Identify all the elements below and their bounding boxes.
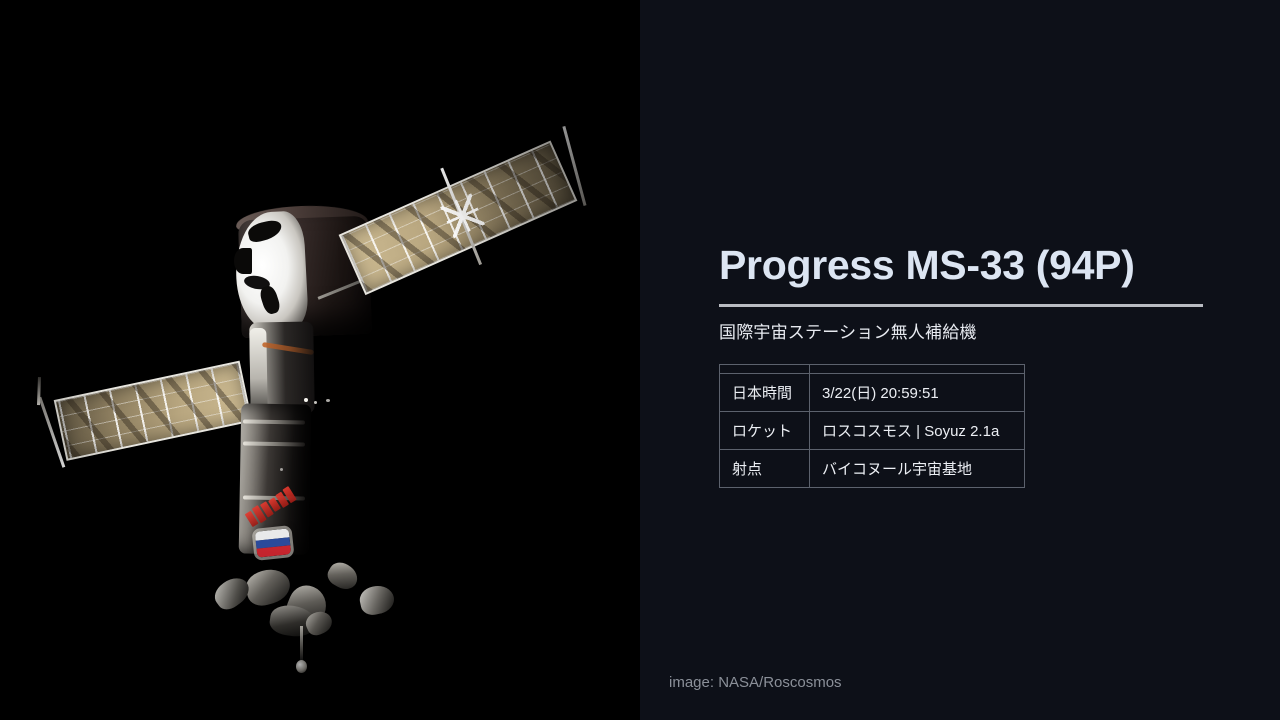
title-divider [719,304,1203,307]
table-row: 日本時間 3/22(日) 20:59:51 [720,374,1025,412]
spec-key-launch-time: 日本時間 [720,374,810,412]
table-row: ロケット ロスコスモス | Soyuz 2.1a [720,412,1025,450]
docking-probe-tip [296,660,307,673]
page-subtitle: 国際宇宙ステーション無人補給機 [719,318,977,343]
solar-array-right [339,140,578,295]
spec-header-key [720,365,810,374]
mission-info-panel: Progress MS-33 (94P) 国際宇宙ステーション無人補給機 日本時… [640,0,1280,720]
page-title: Progress MS-33 (94P) [719,242,1219,289]
russian-flag-emblem [255,528,292,557]
spec-header-value [810,365,1025,374]
spec-table-body: 日本時間 3/22(日) 20:59:51 ロケット ロスコスモス | Soyu… [720,374,1025,488]
hull-specular-3 [326,399,330,402]
spec-key-rocket: ロケット [720,412,810,450]
solar-array-left [54,361,253,461]
table-row: 射点 バイコヌール宇宙基地 [720,450,1025,488]
aft-thruster-1 [242,565,294,610]
aft-equipment-cluster [210,556,400,634]
docking-probe [300,626,303,662]
service-module-highlight [249,328,267,412]
aft-antenna-dish [210,572,254,614]
screen-root: Progress MS-33 (94P) 国際宇宙ステーション無人補給機 日本時… [0,0,1280,720]
spec-table-head [720,365,1025,374]
aft-thruster-4 [357,583,396,617]
solar-cells-left [54,361,253,461]
spec-value-launch-time: 3/22(日) 20:59:51 [810,374,1025,412]
spacecraft-illustration [0,0,640,720]
spacecraft-photo [0,0,640,720]
mission-spec-table: 日本時間 3/22(日) 20:59:51 ロケット ロスコスモス | Soyu… [719,364,1025,488]
hull-specular-4 [280,468,283,471]
image-credit: image: NASA/Roscosmos [669,674,842,691]
spec-value-launch-site: バイコヌール宇宙基地 [810,450,1025,488]
hull-specular-1 [304,398,308,402]
nose-notch [234,248,252,274]
hull-specular-2 [314,401,317,404]
spec-table-header-row [720,365,1025,374]
aft-thruster-3 [324,558,362,594]
spec-key-launch-site: 射点 [720,450,810,488]
spec-value-rocket: ロスコスモス | Soyuz 2.1a [810,412,1025,450]
